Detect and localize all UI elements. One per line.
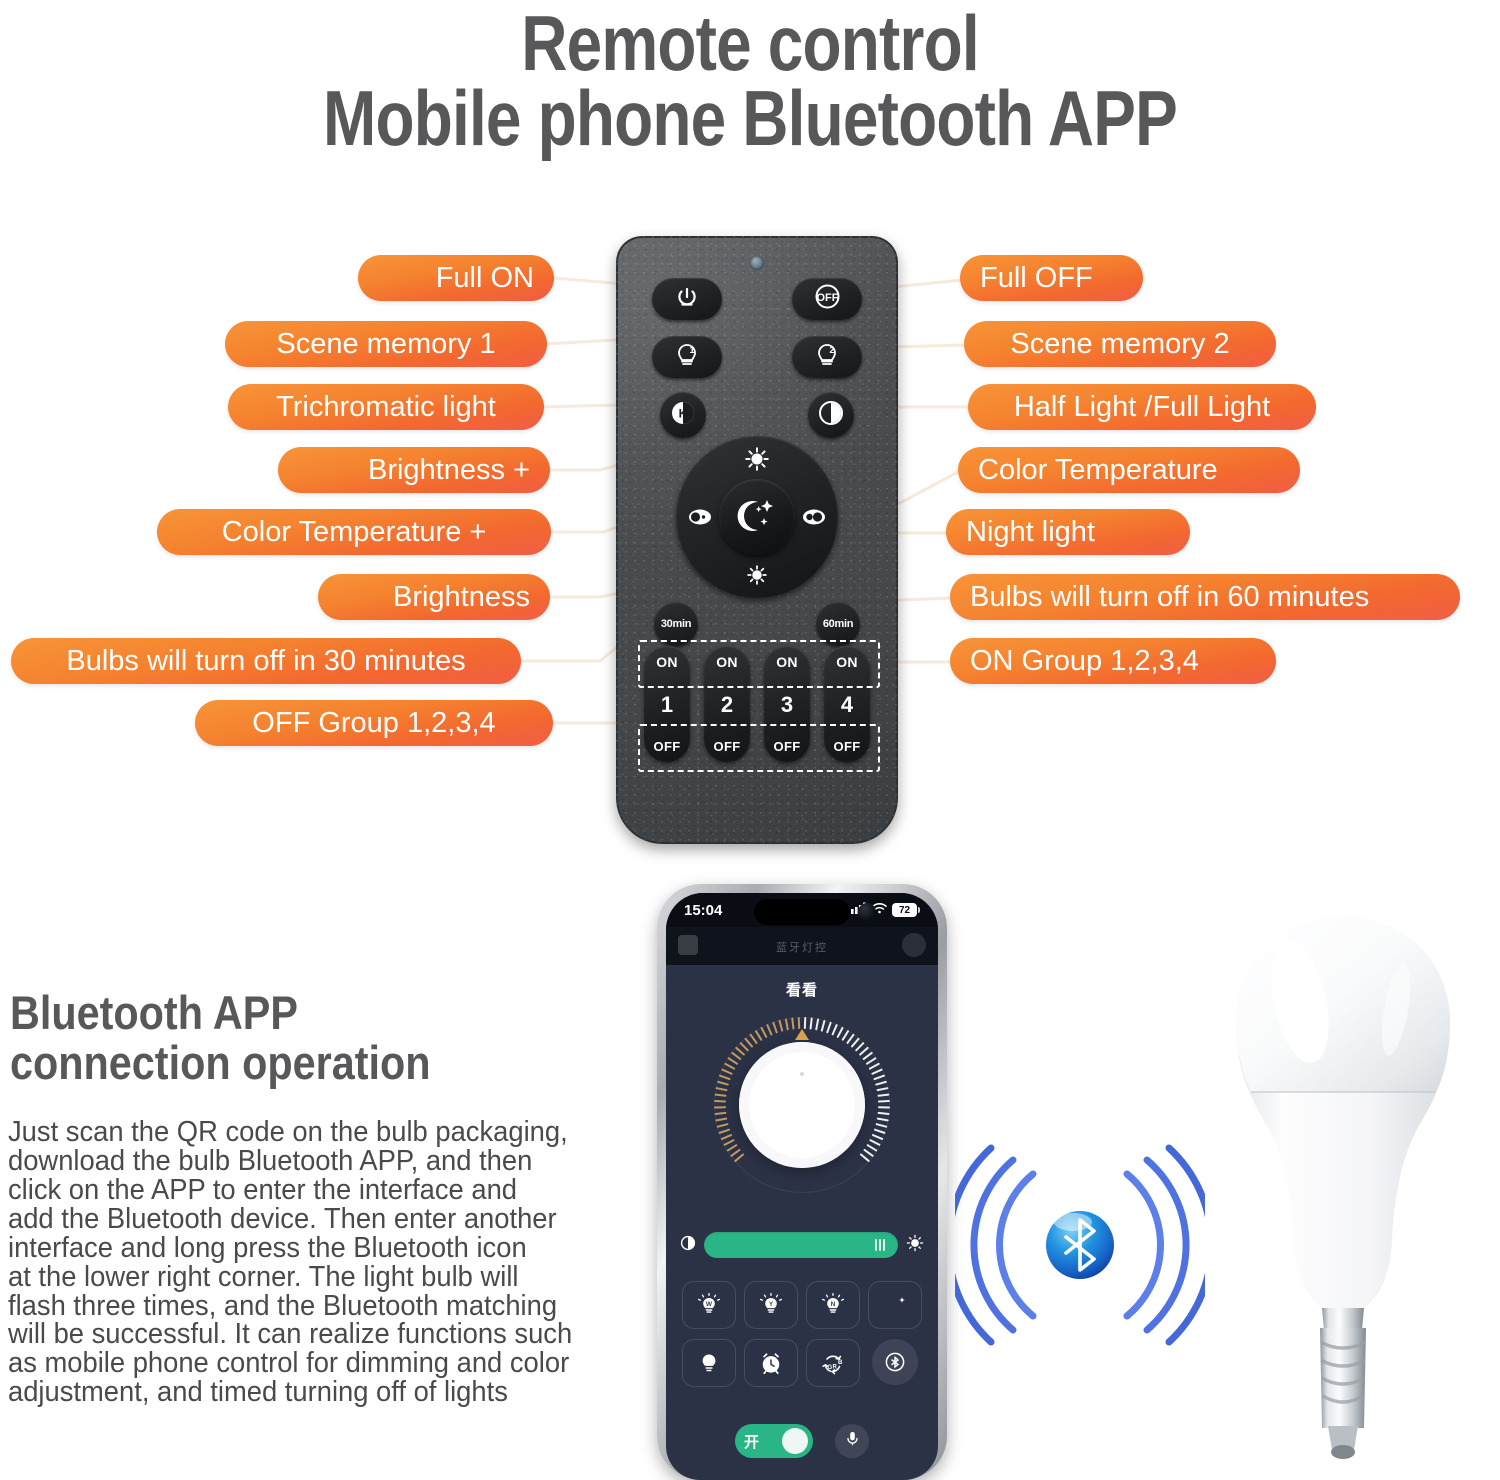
tile-bulb-yellow[interactable]: Y <box>744 1281 798 1329</box>
smartphone: 15:04 <box>657 884 947 1480</box>
brightness-dial[interactable] <box>710 1013 894 1197</box>
microphone-icon <box>844 1430 861 1452</box>
body-line-10: adjustment, and timed turning off of lig… <box>8 1378 627 1407</box>
svg-text:K: K <box>679 406 688 420</box>
group-4-number: 4 <box>841 692 853 718</box>
body-line-7: flash three times, and the Bluetooth mat… <box>8 1292 627 1321</box>
app-heading-line-2: connection operation <box>10 1038 556 1088</box>
battery-icon: 72 <box>892 903 920 917</box>
callout-night-light[interactable]: Night light <box>946 509 1190 555</box>
svg-text:W: W <box>706 1301 713 1308</box>
body-line-5: interface and long press the Bluetooth i… <box>8 1234 627 1263</box>
callout-trichromatic-light[interactable]: Trichromatic light <box>228 384 544 430</box>
power-button[interactable] <box>652 278 722 320</box>
title-line-2: Mobile phone Bluetooth APP <box>135 81 1365 156</box>
svg-text:N: N <box>831 1301 836 1308</box>
power-toggle[interactable]: 开 <box>735 1424 813 1458</box>
app-section-body: Just scan the QR code on the bulb packag… <box>8 1118 627 1407</box>
trichromatic-light-button[interactable]: K <box>660 392 706 438</box>
battery-tip <box>918 907 920 913</box>
avatar[interactable] <box>902 933 926 957</box>
tile-bulb-white[interactable]: W <box>682 1281 736 1329</box>
body-line-9: as mobile phone control for dimming and … <box>8 1349 627 1378</box>
device-name-label: 看看 <box>666 979 938 1000</box>
body-line-2: download the bulb Bluetooth APP, and the… <box>8 1147 627 1176</box>
dial-pointer-icon <box>795 1029 809 1040</box>
color-temperature-down-button[interactable] <box>801 506 827 528</box>
battery-level-text: 72 <box>892 903 917 917</box>
callout-full-off[interactable]: Full OFF <box>960 255 1143 301</box>
svg-text:R: R <box>833 1365 838 1371</box>
scene-tile-grid: W Y <box>666 1281 938 1387</box>
callout-brightness-up[interactable]: Brightness + <box>278 447 550 493</box>
phone-screen[interactable]: 15:04 <box>666 893 938 1480</box>
callout-60-minute-timer[interactable]: Bulbs will turn off in 60 minutes <box>950 574 1460 620</box>
brightness-slider-row[interactable] <box>666 1225 938 1265</box>
app-navigation-bar: 蓝牙灯控 <box>666 927 938 965</box>
body-line-3: click on the APP to enter the interface … <box>8 1176 627 1205</box>
dpad-ring[interactable] <box>676 436 838 598</box>
brightness-icon <box>906 1234 924 1257</box>
half-brightness-icon <box>680 1235 696 1256</box>
led-bulb <box>1188 898 1498 1468</box>
scene-memory-1-button[interactable]: 1 <box>652 336 722 378</box>
brightness-down-button[interactable] <box>744 562 770 588</box>
dial-center-dot <box>800 1072 804 1076</box>
body-line-6: at the lower right corner. The light bul… <box>8 1263 627 1292</box>
svg-text:2: 2 <box>829 345 834 355</box>
half-circle-icon <box>816 398 846 433</box>
svg-text:OFF: OFF <box>816 292 838 304</box>
app-heading-line-1: Bluetooth APP <box>10 988 556 1038</box>
callout-scene-memory-2[interactable]: Scene memory 2 <box>964 321 1276 367</box>
group-3-number: 3 <box>781 692 793 718</box>
full-off-button[interactable]: OFF <box>792 278 862 320</box>
on-group-highlight-box <box>638 640 880 688</box>
callout-on-group[interactable]: ON Group 1,2,3,4 <box>950 638 1276 684</box>
slider-grip-icon <box>875 1239 886 1251</box>
title-line-1: Remote control <box>135 0 1365 81</box>
bluetooth-connection-graphic <box>955 1130 1205 1360</box>
ir-led-indicator <box>750 256 764 270</box>
tile-bulb-natural[interactable]: N <box>806 1281 860 1329</box>
tile-rgb-cycle[interactable]: G B R <box>806 1339 860 1387</box>
scene-memory-1-icon: 1 <box>672 341 702 374</box>
night-light-button[interactable] <box>719 479 795 555</box>
brightness-up-button[interactable] <box>744 446 770 472</box>
callout-full-on[interactable]: Full ON <box>358 255 554 301</box>
dial-knob[interactable] <box>739 1042 865 1168</box>
front-camera-icon <box>858 903 876 921</box>
svg-text:Y: Y <box>769 1301 774 1308</box>
tile-bulb-plain[interactable] <box>682 1339 736 1387</box>
svg-text:B: B <box>838 1360 843 1366</box>
brightness-slider[interactable] <box>704 1232 898 1258</box>
callout-brightness-down[interactable]: Brightness <box>318 574 550 620</box>
group-2-number: 2 <box>721 692 733 718</box>
kelvin-circle-icon: K <box>668 398 698 433</box>
body-line-8: will be successful. It can realize funct… <box>8 1320 627 1349</box>
off-circle-icon: OFF <box>814 283 841 315</box>
scene-memory-2-button[interactable]: 2 <box>792 336 862 378</box>
phone-bottom-bar: 开 <box>666 1424 938 1458</box>
tile-timer[interactable] <box>744 1339 798 1387</box>
toggle-knob <box>782 1428 808 1454</box>
off-group-highlight-box <box>638 724 880 772</box>
app-bar-title: 蓝牙灯控 <box>776 939 828 955</box>
body-line-4: add the Bluetooth device. Then enter ano… <box>8 1205 627 1234</box>
group-1-number: 1 <box>661 692 673 718</box>
moon-stars-icon <box>733 494 781 541</box>
dynamic-island <box>754 899 850 925</box>
color-temperature-up-button[interactable] <box>687 506 713 528</box>
timer-30min-label: 30min <box>661 618 691 630</box>
scene-memory-2-icon: 2 <box>812 341 842 374</box>
timer-60min-label: 60min <box>823 618 853 630</box>
app-section-heading: Bluetooth APP connection operation <box>10 988 556 1088</box>
callout-off-group[interactable]: OFF Group 1,2,3,4 <box>195 700 553 746</box>
group-button-area: ON 1 OFF ON 2 OFF ON 3 OFF ON 4 OFF <box>644 646 870 762</box>
callout-color-temperature-up[interactable]: Color Temperature + <box>157 509 551 555</box>
power-icon <box>674 284 700 315</box>
tile-night-mode[interactable] <box>868 1281 922 1329</box>
page-title: Remote control Mobile phone Bluetooth AP… <box>0 0 1500 156</box>
callout-scene-memory-1[interactable]: Scene memory 1 <box>225 321 547 367</box>
body-line-1: Just scan the QR code on the bulb packag… <box>8 1118 627 1147</box>
remote-control: OFF 1 2 K <box>616 236 898 844</box>
status-time: 15:04 <box>684 902 722 919</box>
microphone-button[interactable] <box>835 1424 869 1458</box>
callout-color-temperature[interactable]: Color Temperature <box>958 447 1300 493</box>
callout-30-minute-timer[interactable]: Bulbs will turn off in 30 minutes <box>11 638 521 684</box>
half-full-light-button[interactable] <box>808 392 854 438</box>
callout-half-full-light[interactable]: Half Light /Full Light <box>968 384 1316 430</box>
svg-text:1: 1 <box>689 345 694 355</box>
menu-icon[interactable] <box>678 935 698 955</box>
tile-bluetooth-pair[interactable] <box>872 1339 918 1385</box>
toggle-label: 开 <box>744 1431 759 1452</box>
